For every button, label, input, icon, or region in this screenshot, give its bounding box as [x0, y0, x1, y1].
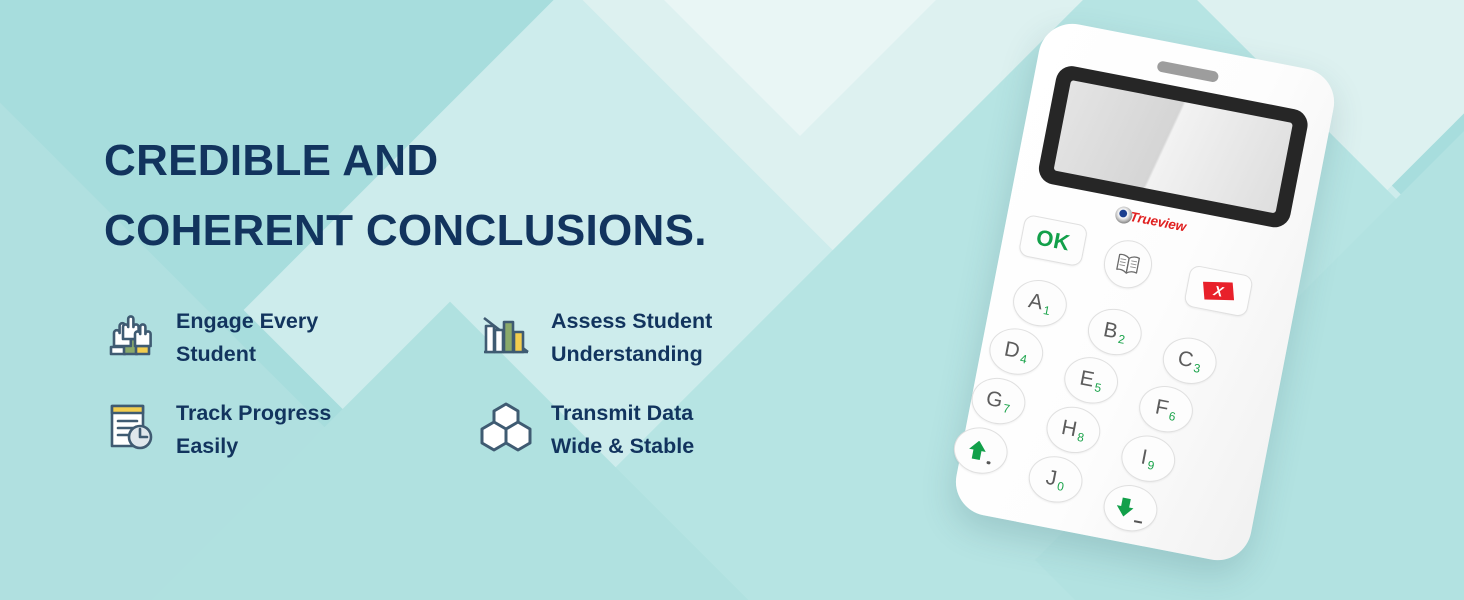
- feature-label-line-1: Track Progress: [176, 397, 331, 430]
- device-screen-bezel: [1036, 63, 1310, 230]
- feature-label: Track Progress Easily: [162, 392, 331, 462]
- key-c3[interactable]: C3: [1159, 333, 1221, 388]
- open-book-icon: [1114, 251, 1142, 277]
- feature-label-line-2: Student: [176, 338, 318, 371]
- feature-item-engage-every-student: Engage Every Student: [100, 300, 475, 370]
- feature-item-assess-student-understanding: Assess Student Understanding: [475, 300, 850, 370]
- red-x-icon: X: [1200, 277, 1238, 305]
- feature-item-transmit-data-wide-stable: Transmit Data Wide & Stable: [475, 392, 850, 462]
- brand-name: Trueview: [1129, 208, 1188, 234]
- keypad: OK X: [951, 210, 1303, 562]
- device-illustration: Trueview OK: [955, 20, 1375, 590]
- up-arrow-key[interactable]: [950, 423, 1012, 478]
- raised-hands-icon: [100, 300, 162, 368]
- key-e5[interactable]: E5: [1060, 353, 1122, 408]
- feature-label-line-2: Easily: [176, 430, 331, 463]
- page-title: Credible and Coherent conclusions.: [104, 126, 707, 265]
- delete-key[interactable]: X: [1183, 264, 1254, 317]
- key-i9[interactable]: I9: [1117, 431, 1179, 486]
- hexagons-icon: [475, 392, 537, 460]
- down-arrow-key[interactable]: [1100, 480, 1162, 535]
- feature-label-line-1: Assess Student: [551, 305, 712, 338]
- headline-line-1: Credible and: [104, 126, 707, 196]
- feature-label-line-2: Understanding: [551, 338, 712, 371]
- ok-key[interactable]: OK: [1018, 214, 1089, 267]
- document-clock-icon: [100, 392, 162, 460]
- lcd-screen: [1054, 80, 1293, 213]
- key-f6[interactable]: F6: [1135, 381, 1197, 436]
- arrow-down-icon: [1115, 496, 1135, 518]
- key-h8[interactable]: H8: [1042, 402, 1104, 457]
- speaker-slot-icon: [1156, 60, 1219, 83]
- key-g7[interactable]: G7: [968, 373, 1030, 428]
- book-key[interactable]: [1100, 236, 1156, 292]
- key-d4[interactable]: D4: [985, 324, 1047, 379]
- key-b2[interactable]: B2: [1084, 304, 1146, 359]
- bar-chart-icon: [475, 300, 537, 368]
- feature-label-line-1: Engage Every: [176, 305, 318, 338]
- feature-label: Transmit Data Wide & Stable: [537, 392, 694, 462]
- arrow-up-icon: [967, 439, 987, 461]
- feature-label: Assess Student Understanding: [537, 300, 712, 370]
- key-j0[interactable]: J0: [1025, 452, 1087, 507]
- dash-mark: [1134, 520, 1142, 523]
- feature-label: Engage Every Student: [162, 300, 318, 370]
- clicker-device: Trueview OK: [950, 18, 1340, 566]
- feature-list: Engage Every Student A: [100, 300, 890, 463]
- promo-banner: Credible and Coherent conclusions.: [0, 0, 1464, 600]
- feature-item-track-progress-easily: Track Progress Easily: [100, 392, 475, 462]
- headline-line-2: Coherent conclusions.: [104, 196, 707, 266]
- feature-label-line-2: Wide & Stable: [551, 430, 694, 463]
- period-mark: [987, 460, 991, 464]
- feature-label-line-1: Transmit Data: [551, 397, 694, 430]
- key-a1[interactable]: A1: [1009, 275, 1071, 330]
